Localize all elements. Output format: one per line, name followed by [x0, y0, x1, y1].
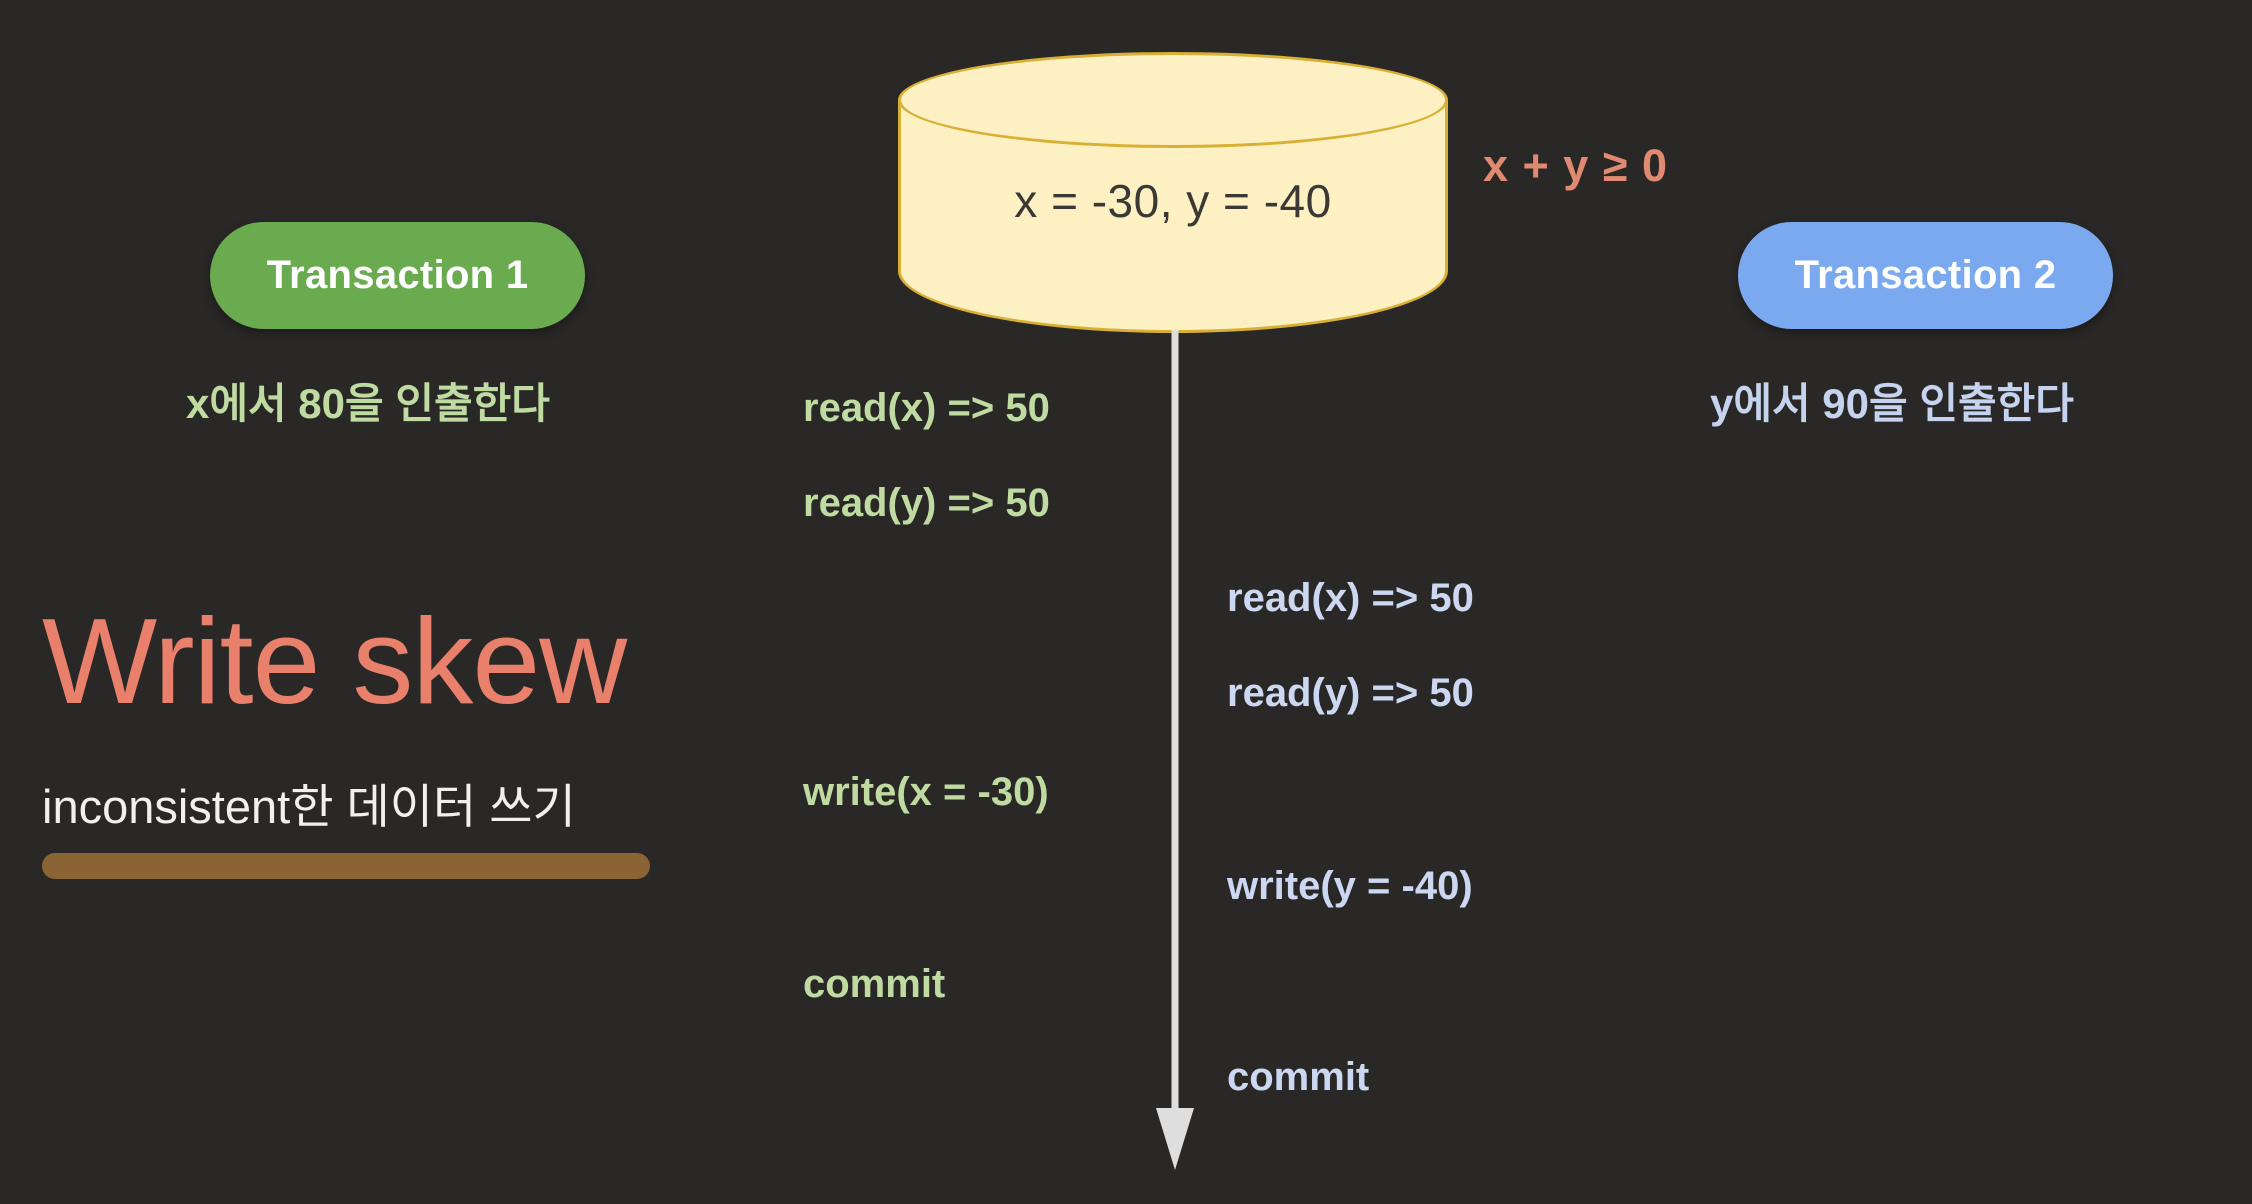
transaction-1-operation: read(y) => 50: [803, 481, 1050, 526]
database-cylinder: x = -30, y = -40: [898, 52, 1448, 333]
transaction-2-operation: read(x) => 50: [1227, 576, 1474, 621]
transaction-2-operation: commit: [1227, 1055, 1369, 1100]
page-subtitle: inconsistent한 데이터 쓰기: [42, 768, 802, 837]
constraint-label: x + y ≥ 0: [1483, 140, 1668, 192]
highlight-bar: [42, 853, 650, 879]
time-arrow-icon: [1152, 330, 1198, 1175]
transaction-1-operation: commit: [803, 962, 945, 1007]
transaction-1-operation: read(x) => 50: [803, 386, 1050, 431]
transaction-2-badge-label: Transaction 2: [1795, 253, 2057, 298]
transaction-2-operation: read(y) => 50: [1227, 671, 1474, 716]
title-block: Write skew inconsistent한 데이터 쓰기: [42, 600, 802, 879]
page-title: Write skew: [42, 600, 802, 722]
write-skew-diagram: x = -30, y = -40 x + y ≥ 0 Transaction 1…: [0, 0, 2252, 1204]
database-state-label: x = -30, y = -40: [898, 174, 1448, 228]
transaction-1-description: x에서 80을 인출한다: [186, 370, 550, 431]
transaction-1-badge-label: Transaction 1: [267, 253, 529, 298]
transaction-2-operation: write(y = -40): [1227, 864, 1473, 909]
transaction-2-description: y에서 90을 인출한다: [1710, 370, 2074, 431]
cylinder-top-ellipse: [898, 52, 1448, 148]
transaction-1-badge[interactable]: Transaction 1: [210, 222, 585, 329]
transaction-2-badge[interactable]: Transaction 2: [1738, 222, 2113, 329]
transaction-1-operation: write(x = -30): [803, 770, 1049, 815]
